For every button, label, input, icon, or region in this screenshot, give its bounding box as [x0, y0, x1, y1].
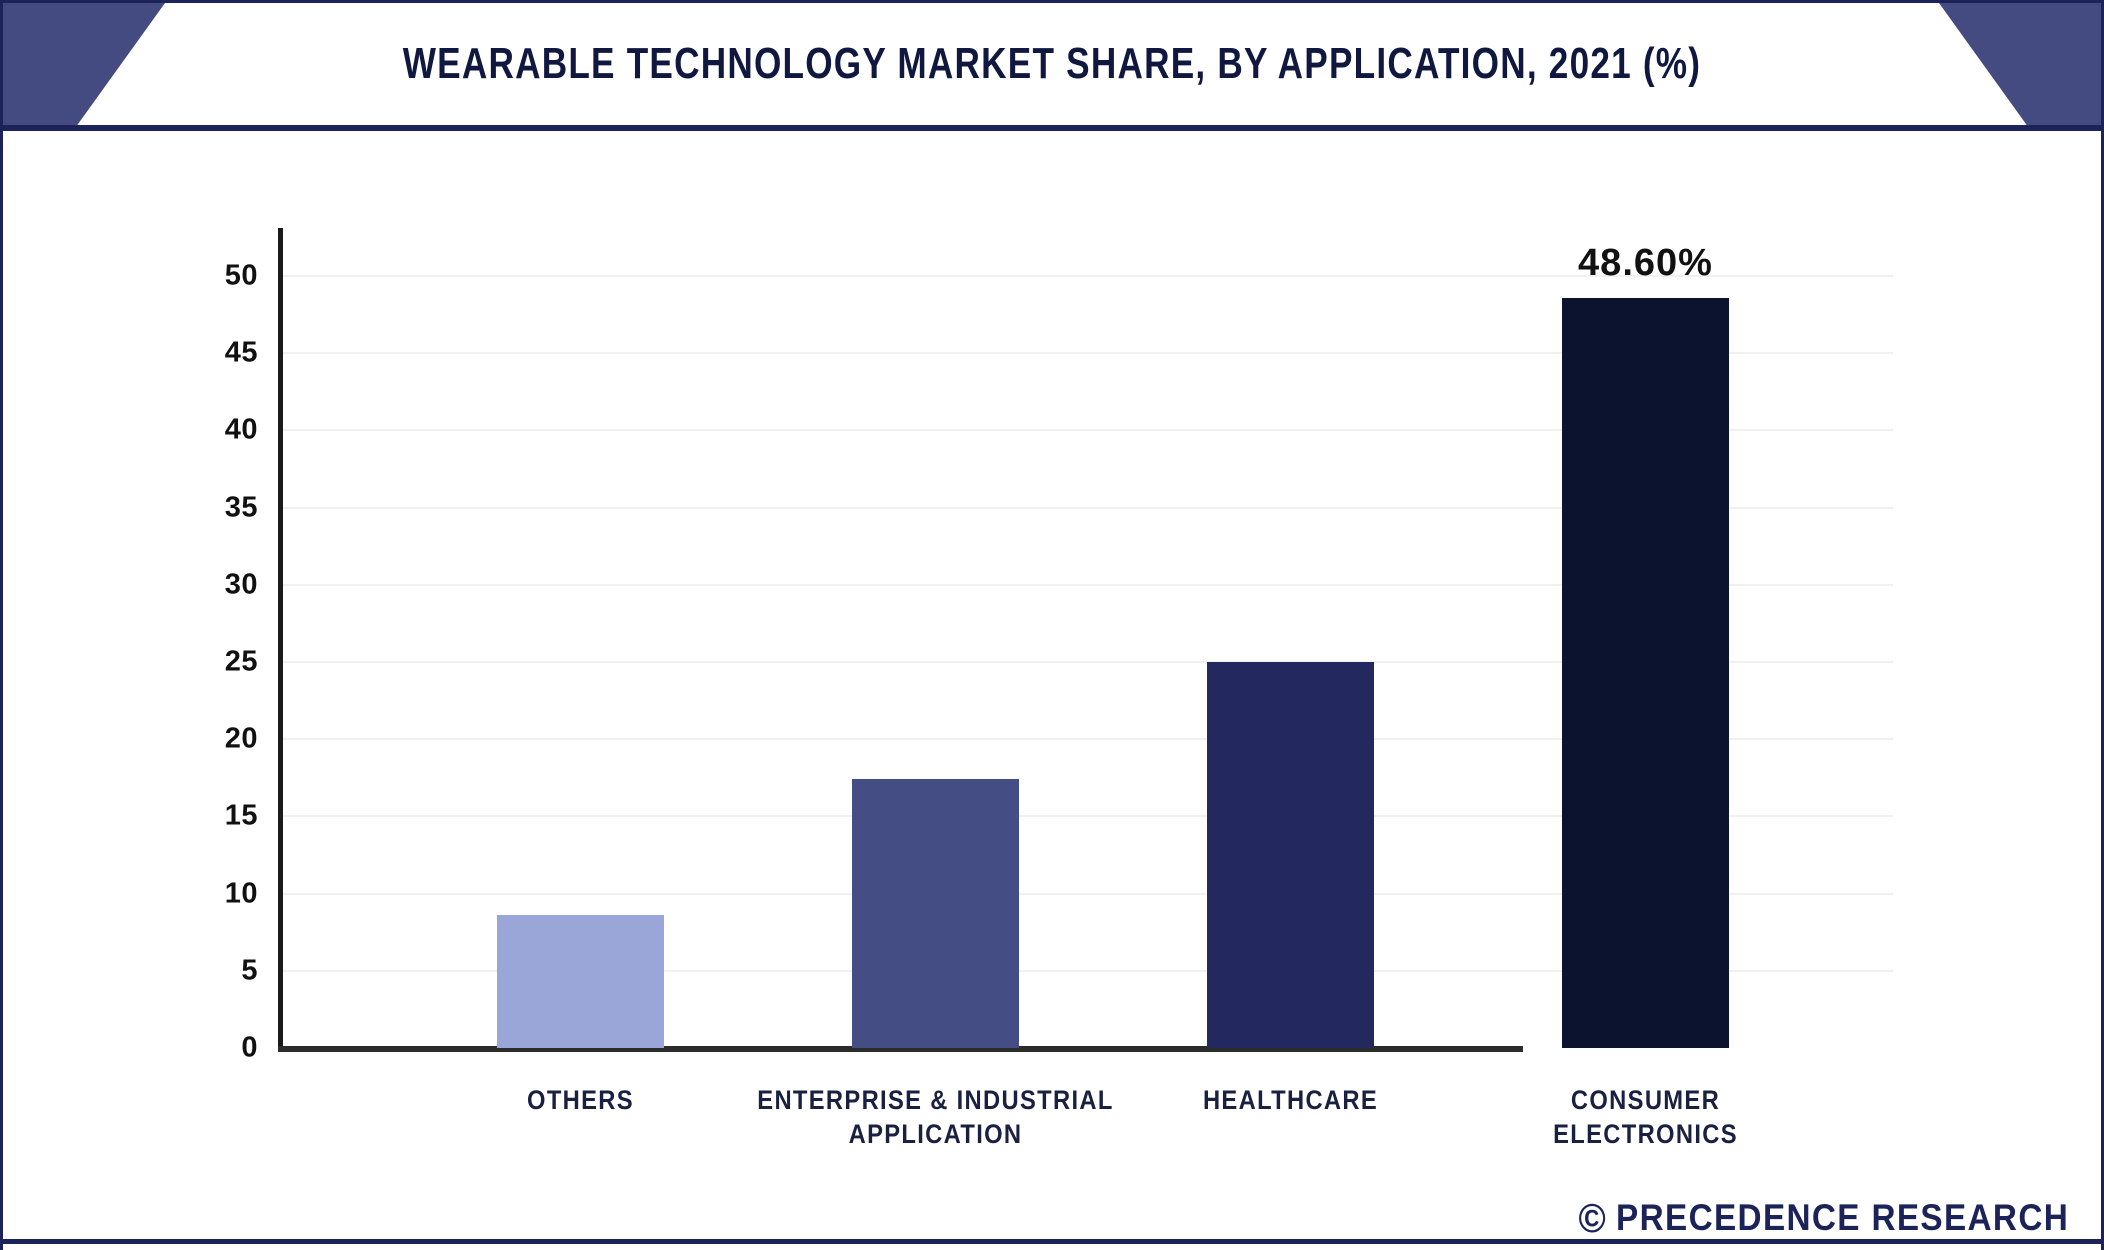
copyright-icon: © — [1578, 1198, 1607, 1239]
brand-watermark: © PRECEDENCE RESEARCH — [1578, 1197, 2069, 1239]
bar — [497, 915, 664, 1048]
y-axis-tick-labels: 05101520253035404550 — [153, 131, 258, 1191]
bar — [852, 779, 1019, 1048]
bar — [1207, 662, 1374, 1048]
x-axis-category-label: HEALTHCARE — [1090, 1083, 1490, 1117]
y-axis-tick-label: 20 — [168, 723, 258, 756]
footer-divider — [3, 1239, 2101, 1244]
y-axis-tick-label: 35 — [168, 491, 258, 524]
y-axis-tick-label: 15 — [168, 800, 258, 833]
y-axis-tick-label: 25 — [168, 646, 258, 679]
x-axis-category-label: CONSUMER ELECTRONICS — [1445, 1083, 1845, 1151]
y-axis-tick-label: 30 — [168, 568, 258, 601]
x-axis-category-label: OTHERS — [380, 1083, 780, 1117]
y-axis-tick-label: 45 — [168, 337, 258, 370]
bar-value-label: 48.60% — [1438, 242, 1853, 285]
y-axis-tick-label: 40 — [168, 414, 258, 447]
y-axis-line — [278, 228, 283, 1050]
chart-frame: WEARABLE TECHNOLOGY MARKET SHARE, BY APP… — [0, 0, 2104, 1250]
x-axis-category-label: ENTERPRISE & INDUSTRIAL APPLICATION — [735, 1083, 1135, 1151]
bar — [1562, 298, 1729, 1048]
y-axis-tick-label: 5 — [168, 954, 258, 987]
y-axis-tick-label: 10 — [168, 877, 258, 910]
y-axis-tick-label: 50 — [168, 260, 258, 293]
chart-area: 05101520253035404550 48.60% OTHERSENTERP… — [3, 131, 2101, 1191]
brand-name: PRECEDENCE RESEARCH — [1616, 1197, 2069, 1239]
y-axis-tick-label: 0 — [168, 1032, 258, 1065]
header-banner: WEARABLE TECHNOLOGY MARKET SHARE, BY APP… — [3, 3, 2101, 131]
page-title: WEARABLE TECHNOLOGY MARKET SHARE, BY APP… — [213, 3, 1891, 125]
